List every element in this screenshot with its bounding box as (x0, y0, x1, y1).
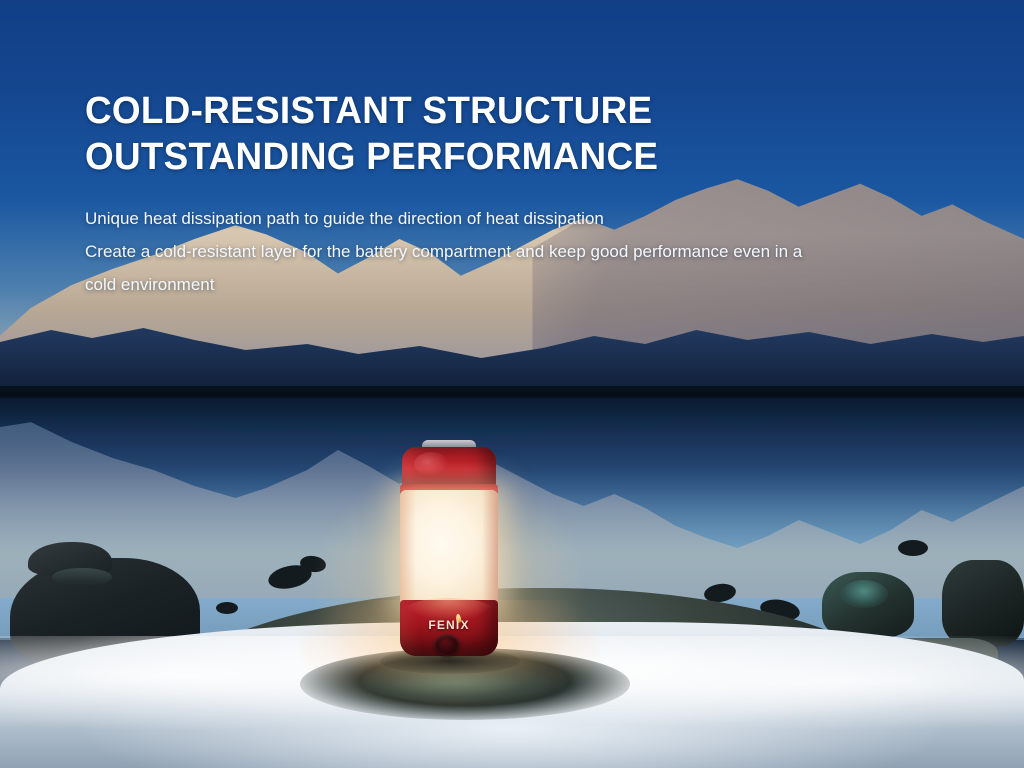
body-copy: Unique heat dissipation path to guide th… (85, 202, 915, 301)
marketing-copy-block: COLD-RESISTANT STRUCTURE OUTSTANDING PER… (85, 88, 945, 301)
headline-line-1: COLD-RESISTANT STRUCTURE (85, 88, 919, 134)
pebble (216, 602, 238, 614)
diffuser-right-edge (482, 490, 498, 606)
product-marketing-banner: FENIX COLD-RESISTANT STRUCTURE OUTSTANDI… (0, 0, 1024, 768)
rock-right-teal-highlight (840, 580, 888, 608)
lantern-cap-highlight (414, 452, 448, 476)
rock-right-large (942, 560, 1024, 646)
body-line-3: cold environment (85, 268, 915, 301)
fenix-lantern-product: FENIX (396, 440, 502, 660)
lantern-power-button (434, 634, 460, 656)
pebble (898, 540, 928, 556)
lantern-base-glow (406, 598, 492, 620)
body-line-1: Unique heat dissipation path to guide th… (85, 202, 915, 235)
headline-line-2: OUTSTANDING PERFORMANCE (85, 134, 919, 180)
body-line-2: Create a cold-resistant layer for the ba… (85, 235, 915, 268)
fenix-brand-logo: FENIX (396, 618, 502, 632)
rock-left-cap (52, 568, 112, 586)
diffuser-left-edge (400, 490, 416, 606)
